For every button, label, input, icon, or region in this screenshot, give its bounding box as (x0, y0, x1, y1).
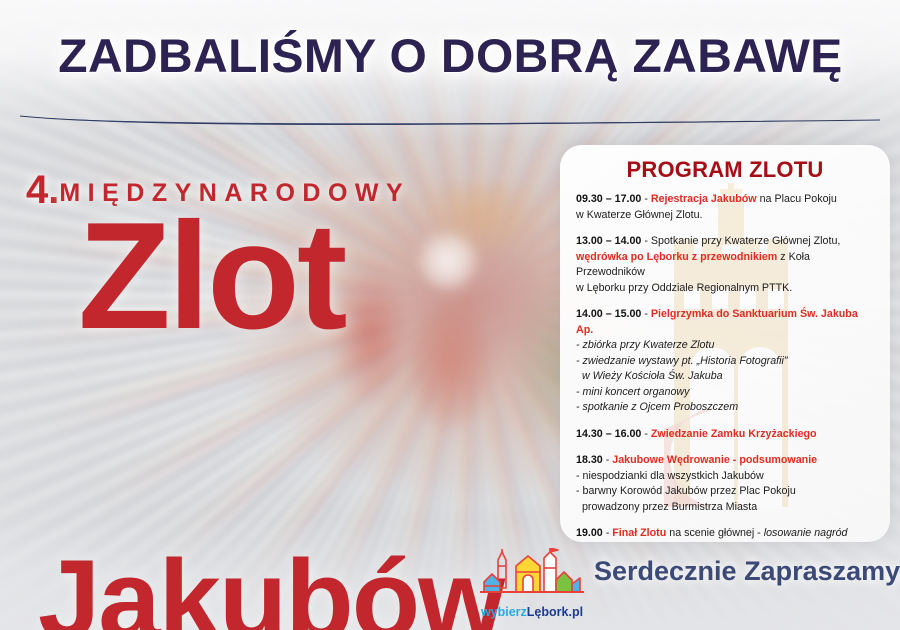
entry-time: 13.00 – 14.00 (576, 235, 641, 247)
program-entry: 13.00 – 14.00 - Spotkanie przy Kwaterze … (576, 234, 874, 296)
program-entry: 14.30 – 16.00 - Zwiedzanie Zamku Krzyżac… (576, 427, 874, 443)
entry-dash: - (641, 193, 651, 205)
invite-label: Serdecznie Zapraszamy! (594, 556, 900, 587)
entry-dash: - (641, 428, 651, 440)
program-entry: 19.00 - Finał Zlotu na scenie głównej - … (576, 526, 874, 542)
entry-highlight: Finał Zlotu (612, 527, 666, 539)
entry-time: 14.30 – 16.00 (576, 428, 641, 440)
entry-highlight: Zwiedzanie Zamku Krzyżackiego (651, 428, 817, 440)
town-skyline-icon (476, 548, 588, 604)
logo-wordmark: wybierzLębork.pl (476, 605, 588, 619)
entry-time: 14.00 – 15.00 (576, 308, 641, 320)
program-panel: PROGRAM ZLOTU 09.30 – 17.00 - Rejestracj… (560, 145, 890, 542)
entry-time: 18.30 (576, 454, 603, 466)
entry-highlight: Jakubowe Wędrowanie - podsumowanie (612, 454, 817, 466)
program-entry: 09.30 – 17.00 - Rejestracja Jakubów na P… (576, 192, 874, 223)
entry-line: - mini koncert organowy (576, 386, 689, 398)
logo-prefix: wybierz (481, 605, 527, 619)
program-entry: 14.00 – 15.00 - Pielgrzymka do Sanktuari… (576, 307, 874, 416)
entry-line: w Lęborku przy Oddziale Regionalnym PTTK… (576, 282, 792, 294)
wybierz-lebork-logo[interactable]: wybierzLębork.pl (476, 548, 588, 620)
entry-dash: - (603, 454, 613, 466)
edition-number: 4. (26, 168, 59, 212)
entry-highlight: Rejestracja Jakubów (651, 193, 757, 205)
header-banner: ZADBALIŚMY O DOBRĄ ZABAWĘ (0, 22, 900, 88)
main-title-zlot: Zlot (78, 210, 345, 344)
main-title-jakubow: Jakubów (38, 550, 503, 630)
entry-line: prowadzony przez Burmistrza Miasta (576, 501, 757, 513)
poster-root: ZADBALIŚMY O DOBRĄ ZABAWĘ 4.MIĘDZYNARODO… (0, 0, 900, 630)
entry-time: 19.00 (576, 527, 603, 539)
program-title: PROGRAM ZLOTU (576, 157, 874, 183)
entry-rest: na Placu Pokoju (757, 193, 837, 205)
entry-rest: na scenie głównej - (666, 527, 763, 539)
program-entry: 18.30 - Jakubowe Wędrowanie - podsumowan… (576, 453, 874, 515)
logo-suffix: Lębork.pl (527, 605, 583, 619)
entry-line: - barwny Korowód Jakubów przez Plac Poko… (576, 485, 796, 497)
entry-dash: - (641, 235, 651, 247)
entry-line: w Kwaterze Głównej Zlotu. (576, 209, 703, 221)
entry-highlight: wędrówka po Lęborku z przewodnikiem (576, 251, 777, 263)
entry-dash: - (641, 308, 651, 320)
entry-line: - zwiedzanie wystawy pt. „Historia Fotog… (576, 355, 787, 367)
entry-line: - zbiórka przy Kwaterze Zlotu (576, 339, 714, 351)
entry-line: - niespodzianki dla wszystkich Jakubów (576, 470, 764, 482)
header-title: ZADBALIŚMY O DOBRĄ ZABAWĘ (58, 28, 842, 83)
entry-time: 09.30 – 17.00 (576, 193, 641, 205)
entry-rest: Spotkanie przy Kwaterze Głównej Zlotu, (651, 235, 841, 247)
program-content: PROGRAM ZLOTU 09.30 – 17.00 - Rejestracj… (560, 145, 890, 542)
header-swoosh-divider (18, 112, 882, 128)
entry-dash: - (603, 527, 613, 539)
entry-line: - spotkanie z Ojcem Proboszczem (576, 401, 738, 413)
entry-line: w Wieży Kościoła Św. Jakuba (576, 370, 723, 382)
